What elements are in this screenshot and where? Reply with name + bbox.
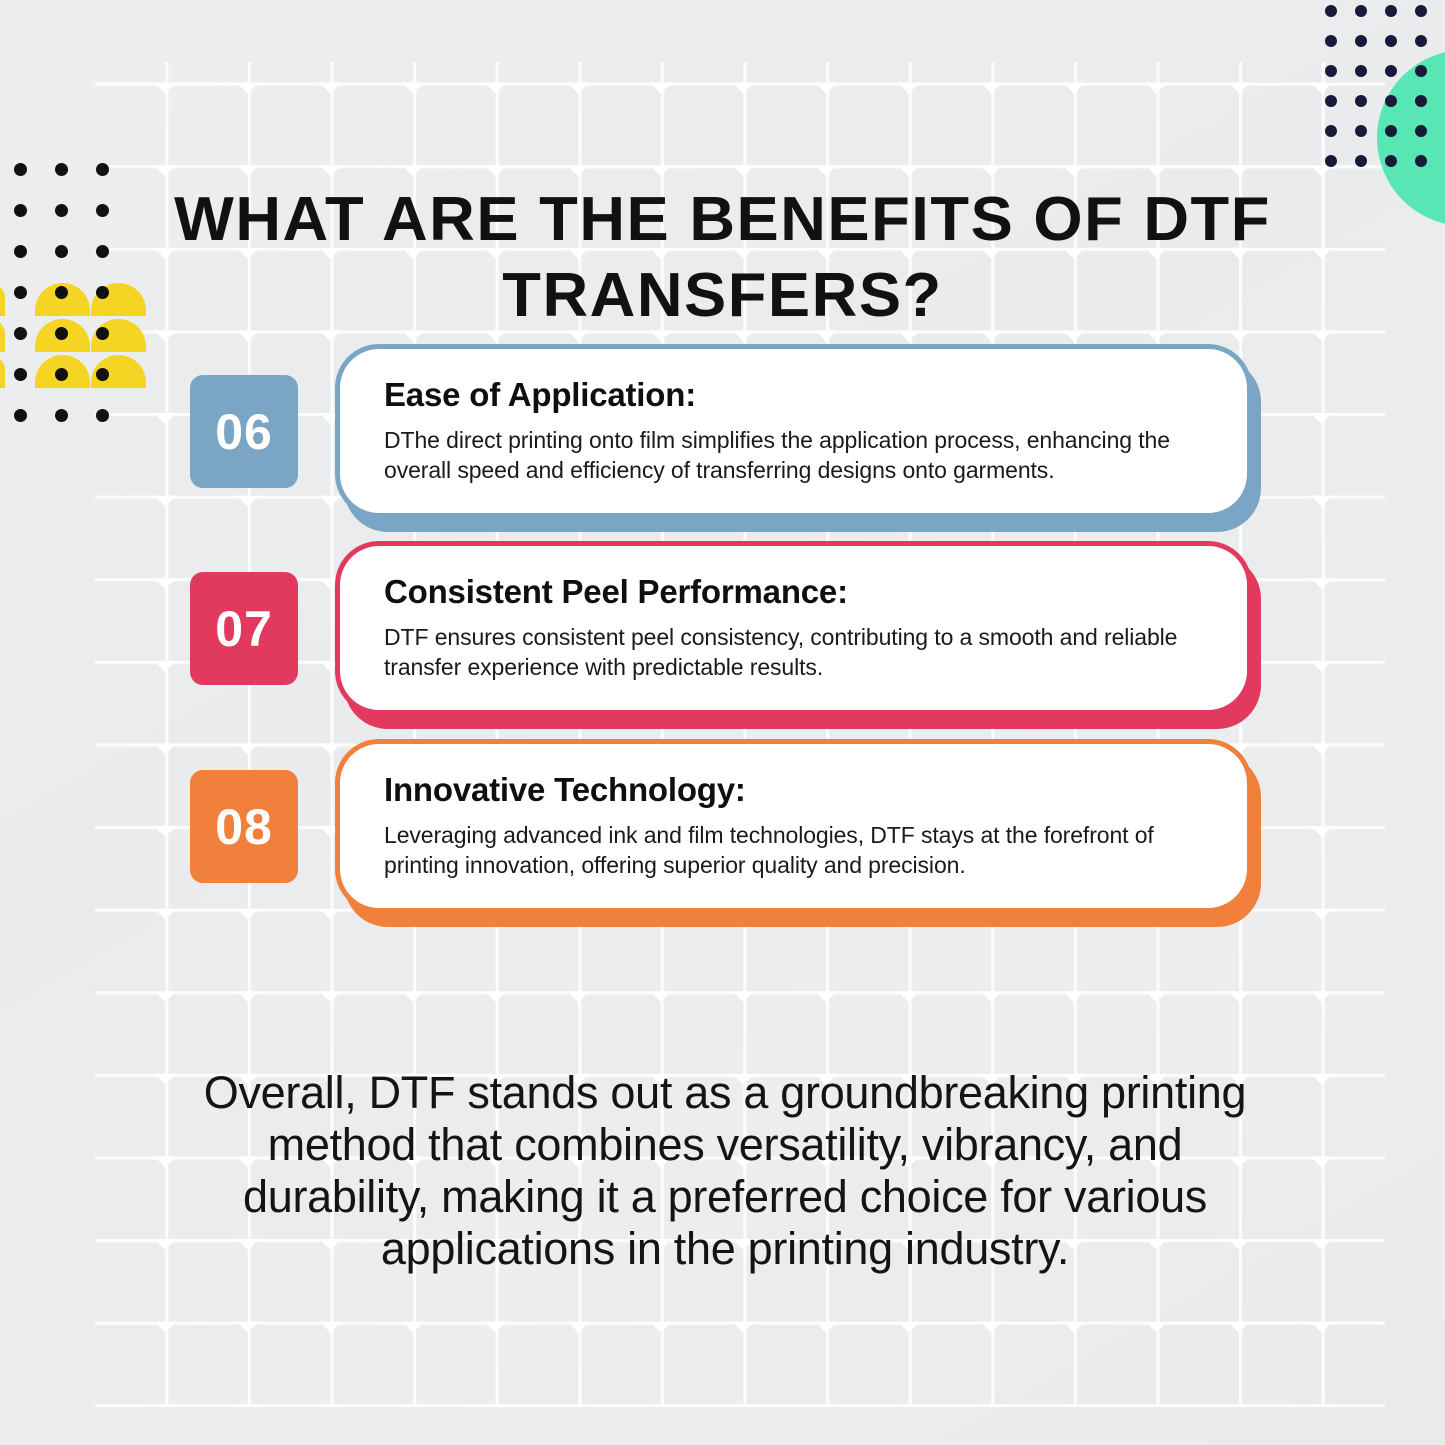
badge-number-06: 06 <box>190 375 298 488</box>
badge-label: 06 <box>215 403 273 461</box>
card-surface-06: Ease of Application: DThe direct printin… <box>335 344 1252 518</box>
badge-number-07: 07 <box>190 572 298 685</box>
badge-label: 08 <box>215 798 273 856</box>
card-title-06: Ease of Application: <box>384 375 1203 415</box>
black-dot-matrix-left <box>14 163 114 355</box>
card-body-wrap-08: Innovative Technology: Leveraging advanc… <box>335 739 1252 913</box>
card-surface-07: Consistent Peel Performance: DTF ensures… <box>335 541 1252 715</box>
card-surface-08: Innovative Technology: Leveraging advanc… <box>335 739 1252 913</box>
card-description-08: Leveraging advanced ink and film technol… <box>384 820 1203 880</box>
card-description-07: DTF ensures consistent peel consistency,… <box>384 622 1203 682</box>
badge-label: 07 <box>215 600 273 658</box>
card-description-06: DThe direct printing onto film simplifie… <box>384 425 1203 485</box>
card-title-07: Consistent Peel Performance: <box>384 572 1203 612</box>
navy-dot-matrix-right <box>1325 0 1445 170</box>
card-body-wrap-06: Ease of Application: DThe direct printin… <box>335 344 1252 518</box>
page-title: WHAT ARE THE BENEFITS OF DTF TRANSFERS? <box>169 182 1276 334</box>
summary-paragraph: Overall, DTF stands out as a groundbreak… <box>190 1067 1260 1275</box>
badge-number-08: 08 <box>190 770 298 883</box>
card-title-08: Innovative Technology: <box>384 770 1203 810</box>
card-body-wrap-07: Consistent Peel Performance: DTF ensures… <box>335 541 1252 715</box>
infographic-poster: WHAT ARE THE BENEFITS OF DTF TRANSFERS? … <box>0 0 1445 1445</box>
